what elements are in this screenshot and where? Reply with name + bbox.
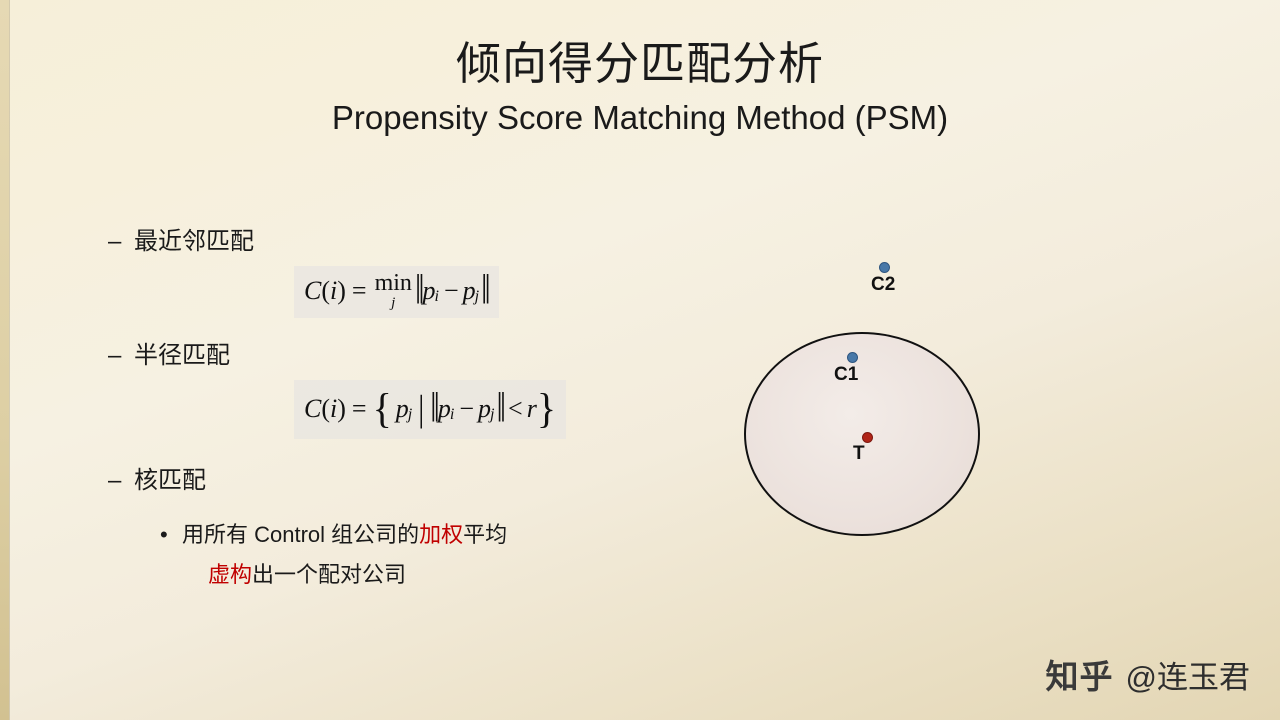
bullet-item-kernel: – 核匹配: [108, 465, 728, 497]
bullet-dash: –: [108, 226, 134, 258]
point-t-label: T: [853, 443, 865, 465]
bullet-item-radius: – 半径匹配: [108, 340, 728, 372]
point-c1-marker: [847, 352, 858, 363]
bullet-item-nearest-neighbor: – 最近邻匹配: [108, 226, 728, 258]
sub-bullet-line2: 虚构出一个配对公司: [208, 555, 728, 595]
sub-bullet-text-a: 用所有 Control 组公司的: [182, 522, 419, 547]
psm-matching-diagram: C2 C1 T: [730, 240, 1060, 570]
title-block: 倾向得分匹配分析 Propensity Score Matching Metho…: [0, 36, 1280, 140]
sub-bullet-highlight-weighted: 加权: [419, 522, 463, 547]
page-title-cn: 倾向得分匹配分析: [0, 36, 1280, 92]
sub-bullet-highlight-construct: 虚构: [208, 562, 252, 587]
nearest-neighbor-formula: C(i) = minj ‖ pi − pj ‖: [294, 266, 499, 318]
formula-expression: C(i) = { pj | ‖ pi − pj ‖ < r }: [304, 385, 556, 432]
bullet-dash: –: [108, 340, 134, 372]
bullet-label: 核匹配: [134, 465, 206, 497]
sub-bullet-kernel-description: •用所有 Control 组公司的加权平均 虚构出一个配对公司: [160, 515, 728, 595]
content-column: – 最近邻匹配 C(i) = minj ‖ pi − pj ‖ – 半径匹配 C…: [108, 226, 728, 595]
page-title-en: Propensity Score Matching Method (PSM): [0, 96, 1280, 140]
point-c2-marker: [879, 262, 890, 273]
watermark: 知乎 @连玉君: [1046, 650, 1250, 698]
bullet-dash: –: [108, 465, 134, 497]
bullet-dot-icon: •: [160, 515, 182, 555]
radius-formula: C(i) = { pj | ‖ pi − pj ‖ < r }: [294, 380, 566, 439]
sub-bullet-text-b: 平均: [463, 522, 507, 547]
bullet-label: 半径匹配: [134, 340, 230, 372]
slide-canvas: 倾向得分匹配分析 Propensity Score Matching Metho…: [0, 0, 1280, 720]
point-c1-label: C1: [834, 364, 858, 386]
bullet-label: 最近邻匹配: [134, 226, 254, 258]
sub-bullet-text-c: 出一个配对公司: [252, 562, 406, 587]
point-t-marker: [862, 432, 873, 443]
point-c2-label: C2: [871, 274, 895, 296]
zhihu-logo: 知乎: [1046, 650, 1114, 698]
watermark-username: @连玉君: [1126, 652, 1250, 697]
formula-expression: C(i) = minj ‖ pi − pj ‖: [304, 271, 489, 311]
